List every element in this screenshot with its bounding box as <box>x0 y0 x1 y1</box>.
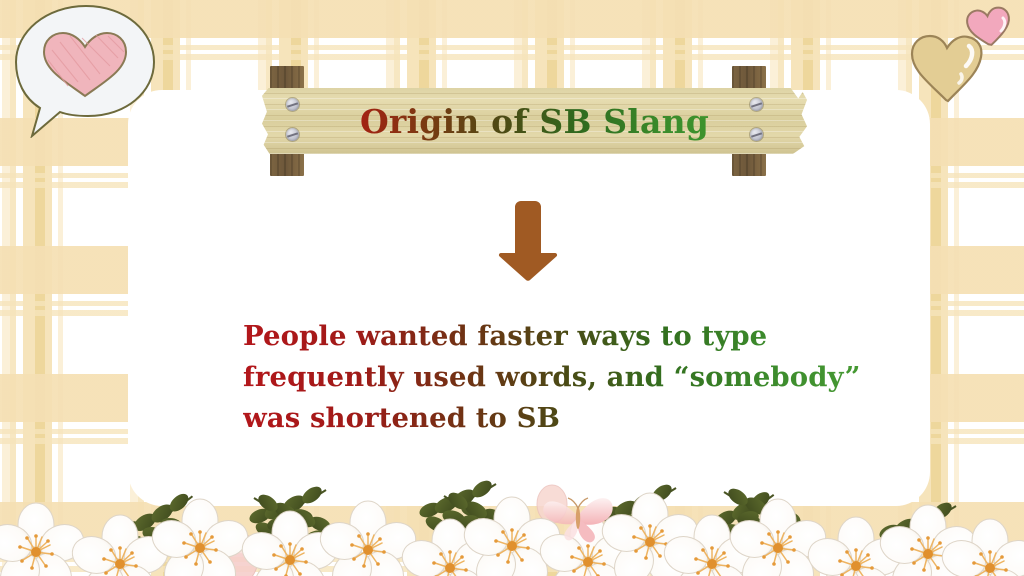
slide-title: Origin of SB Slang <box>262 88 807 154</box>
slide-body-text: People wanted faster ways to type freque… <box>243 316 863 439</box>
speech-bubble-with-heart-icon <box>8 2 162 138</box>
gold-heart-icon <box>912 36 981 101</box>
hearts-decoration <box>908 4 1024 108</box>
wooden-sign: Origin of SB Slang <box>262 66 807 176</box>
down-arrow-icon <box>497 195 559 283</box>
slide-canvas: Origin of SB Slang People wanted faster … <box>0 0 1024 576</box>
